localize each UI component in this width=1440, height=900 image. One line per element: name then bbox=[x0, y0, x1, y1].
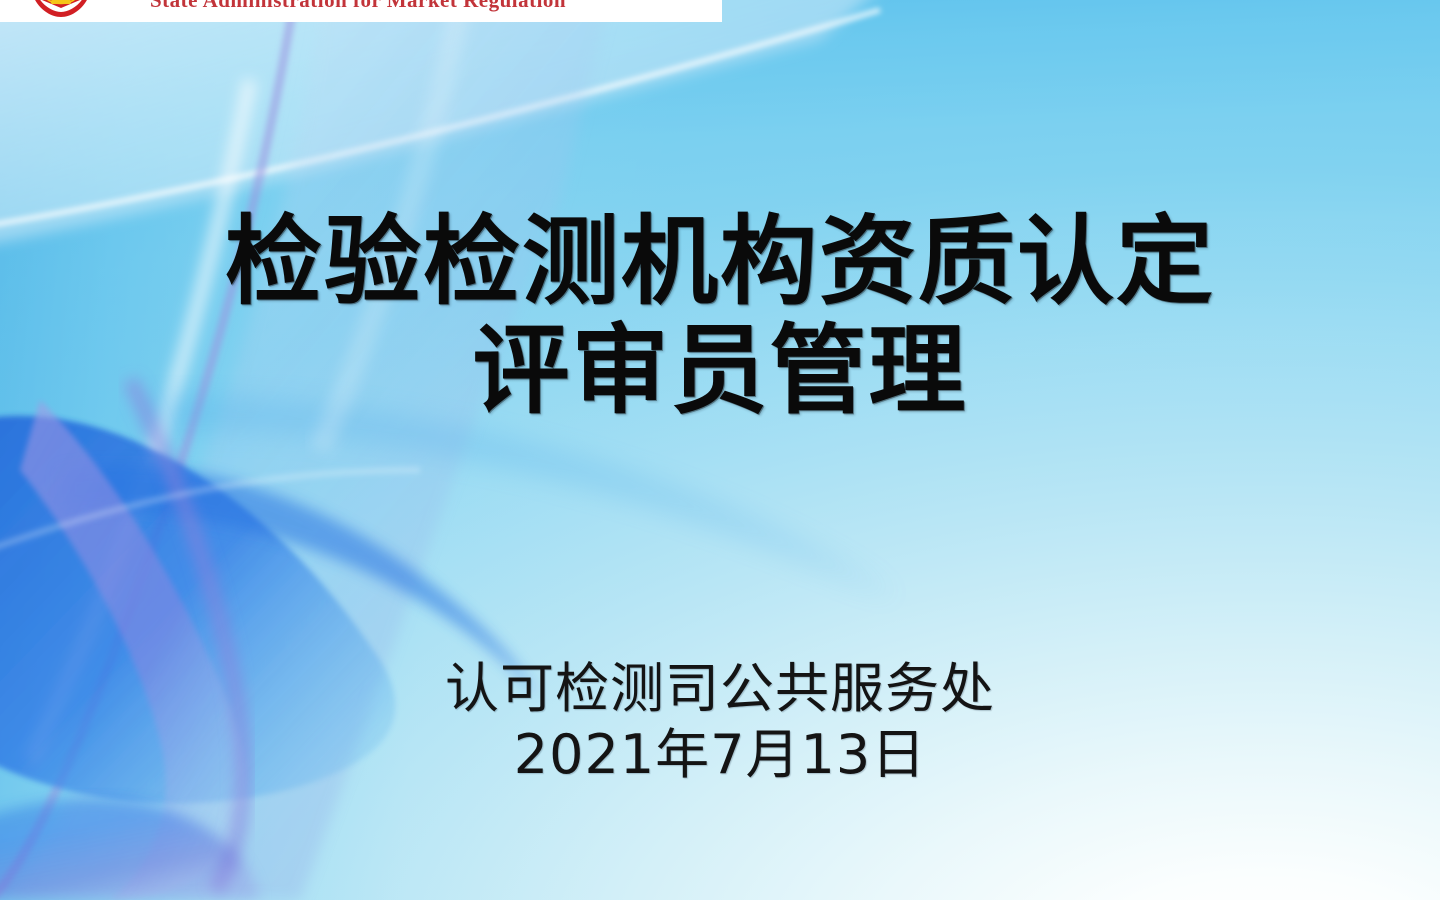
title-line-1: 检验检测机构资质认定 bbox=[0, 213, 1440, 312]
header-band: State Administration for Market Regulati… bbox=[0, 0, 722, 22]
subtitle-block: 认可检测司公共服务处 2021年7月13日 bbox=[0, 660, 1440, 785]
department-name: 认可检测司公共服务处 bbox=[0, 660, 1440, 718]
title-line-2: 评审员管理 bbox=[0, 322, 1440, 421]
title-slide: State Administration for Market Regulati… bbox=[0, 0, 1440, 900]
presentation-date: 2021年7月13日 bbox=[0, 726, 1440, 784]
national-emblem-icon bbox=[30, 0, 92, 20]
organization-name-en: State Administration for Market Regulati… bbox=[150, 0, 566, 13]
title-block: 检验检测机构资质认定 评审员管理 bbox=[0, 213, 1440, 421]
